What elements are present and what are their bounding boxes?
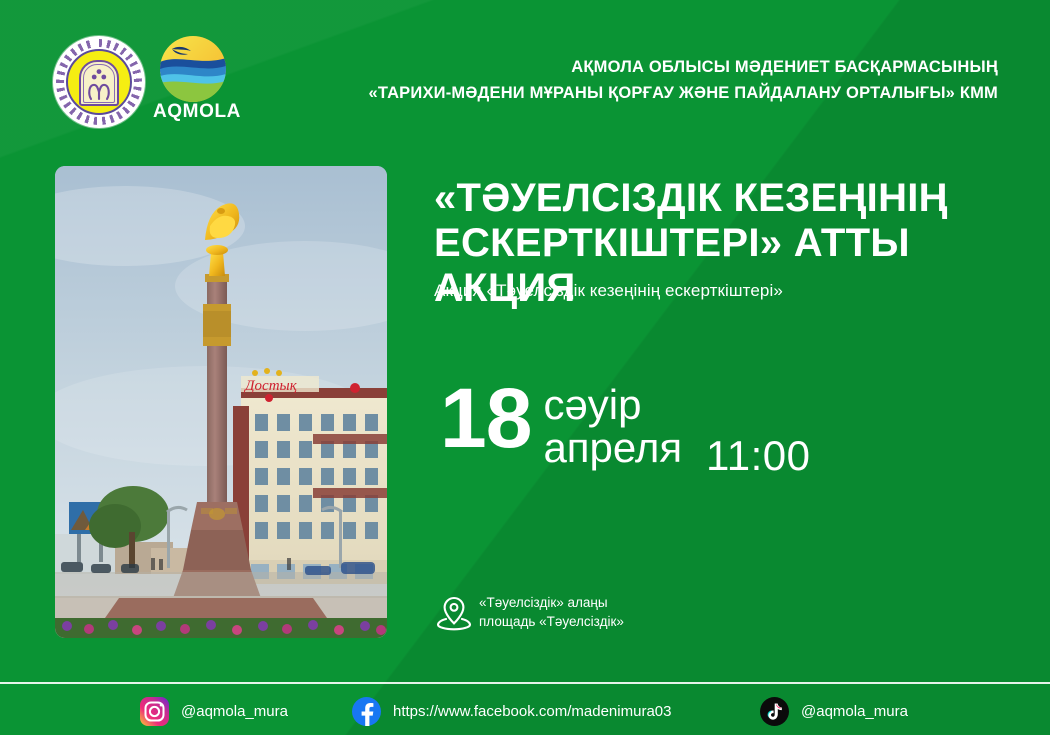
- social-facebook[interactable]: https://www.facebook.com/madenimura03: [352, 697, 671, 726]
- event-time: 11:00: [706, 432, 811, 480]
- event-date-block: 18 сәуір апреля: [440, 382, 682, 470]
- emblem-trefoil-icon: [91, 69, 107, 80]
- organization-line-1: АҚМОЛА ОБЛЫСЫ МӘДЕНИЕТ БАСҚАРМАСЫНЫҢ: [571, 58, 998, 77]
- footer-divider: [0, 682, 1050, 684]
- independence-monument-photo: Достық: [55, 166, 387, 638]
- organization-line-2: «ТАРИХИ-МӘДЕНИ МҰРАНЫ ҚОРҒАУ ЖӘНЕ ПАЙДАЛ…: [368, 84, 998, 103]
- instagram-icon[interactable]: [140, 697, 169, 726]
- tiktok-icon[interactable]: [760, 697, 789, 726]
- photo-illustration: Достық: [55, 166, 387, 638]
- social-instagram[interactable]: @aqmola_mura: [140, 697, 288, 726]
- event-month-kk: сәуір: [543, 384, 682, 427]
- event-month-ru: апреля: [543, 427, 682, 470]
- facebook-icon[interactable]: [352, 697, 381, 726]
- tiktok-handle[interactable]: @aqmola_mura: [801, 703, 908, 720]
- emblem-ornament-icon: [87, 81, 111, 101]
- event-location-kk: «Тәуелсіздік» алаңы: [479, 594, 624, 613]
- aqmola-logo-icon: [160, 36, 226, 102]
- page-subtitle: Акция «Тәуелсіздік кезеңінің ескерткіште…: [434, 281, 783, 301]
- facebook-url[interactable]: https://www.facebook.com/madenimura03: [393, 703, 671, 720]
- event-day: 18: [440, 382, 531, 456]
- svg-text:Достық: Достық: [243, 378, 298, 394]
- location-pin-icon: [437, 595, 471, 631]
- event-location: «Тәуелсіздік» алаңы площадь «Тәуелсіздік…: [437, 594, 624, 631]
- instagram-handle[interactable]: @aqmola_mura: [181, 703, 288, 720]
- event-poster: AQMOLA АҚМОЛА ОБЛЫСЫ МӘДЕНИЕТ БАСҚАРМАСЫ…: [0, 0, 1050, 735]
- aqmola-wordmark: AQMOLA: [152, 101, 242, 123]
- event-month-stack: сәуір апреля: [543, 384, 682, 470]
- title-line-1: «ТӘУЕЛСІЗДІК КЕЗЕҢІНІҢ: [434, 176, 1004, 221]
- culture-department-emblem: [53, 36, 145, 128]
- event-location-text: «Тәуелсіздік» алаңы площадь «Тәуелсіздік…: [479, 594, 624, 631]
- social-tiktok[interactable]: @aqmola_mura: [760, 697, 908, 726]
- event-location-ru: площадь «Тәуелсіздік»: [479, 613, 624, 632]
